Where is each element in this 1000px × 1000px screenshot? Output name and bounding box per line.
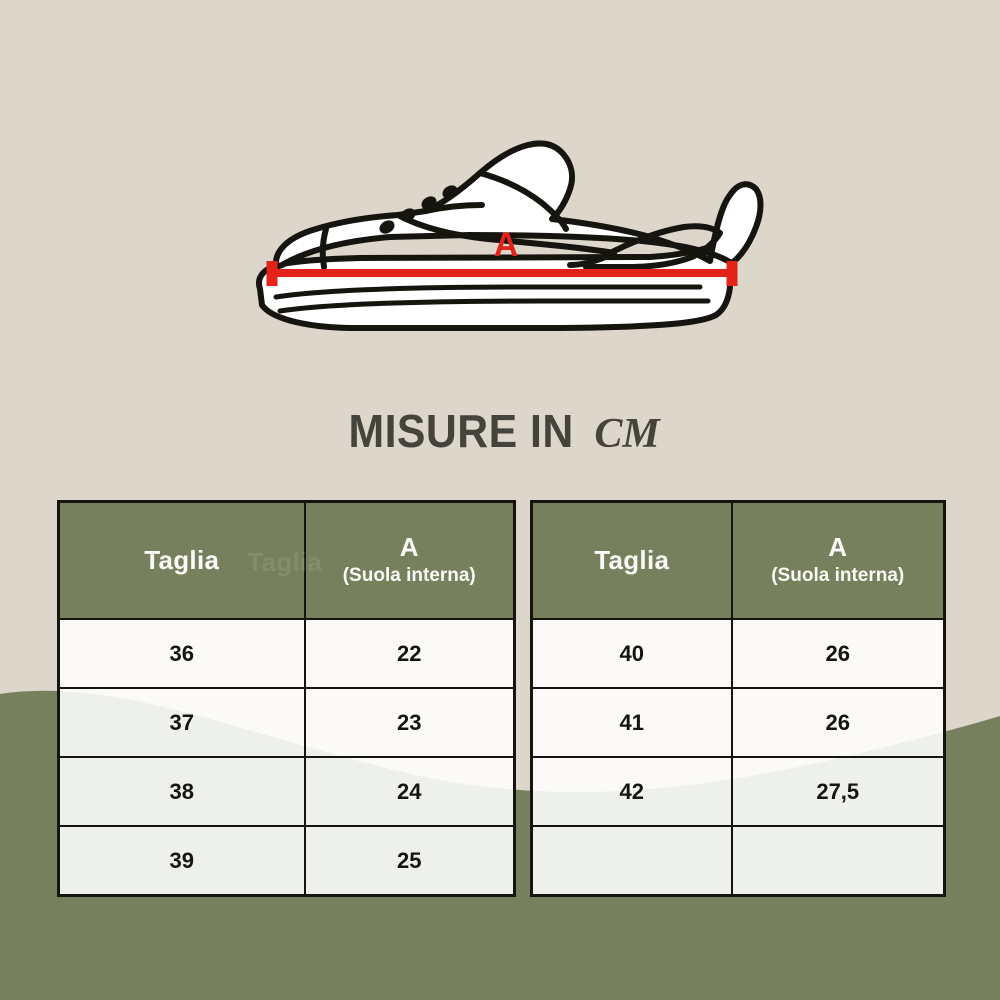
table-row: 42 27,5	[532, 757, 945, 826]
title-unit-text: CM	[594, 413, 659, 455]
header-measure-right: A (Suola interna)	[732, 502, 945, 620]
title-main-text: MISURE IN	[349, 408, 574, 454]
cell-size-empty	[532, 826, 732, 896]
table-header-row: Taglia Taglia A (Suola interna)	[59, 502, 515, 620]
header-measure-left: A (Suola interna)	[305, 502, 515, 620]
measure-label-a: A	[494, 226, 519, 264]
table-row: 41 26	[532, 688, 945, 757]
size-table-right: Taglia A (Suola interna) 40 26 41 26 42 …	[530, 500, 946, 897]
header-measure-note-right: (Suola interna)	[733, 564, 944, 588]
header-measure-letter-left: A	[306, 533, 514, 562]
cell-size: 38	[59, 757, 305, 826]
header-size-label-right: Taglia	[533, 546, 731, 575]
sneaker-side-profile-icon: A	[230, 111, 770, 341]
cell-measure: 26	[732, 619, 945, 688]
sneaker-illustration: A	[0, 96, 1000, 356]
table-row: 36 22	[59, 619, 515, 688]
cell-size: 36	[59, 619, 305, 688]
header-size-right: Taglia	[532, 502, 732, 620]
cell-measure: 25	[305, 826, 515, 896]
header-measure-note-left: (Suola interna)	[306, 564, 514, 588]
cell-size: 37	[59, 688, 305, 757]
cell-size: 42	[532, 757, 732, 826]
table-row: 38 24	[59, 757, 515, 826]
header-measure-letter-right: A	[733, 533, 944, 562]
table-row	[532, 826, 945, 896]
table-header-row: Taglia A (Suola interna)	[532, 502, 945, 620]
size-chart-page: A MISURE INCM Taglia Taglia A (Suola int…	[0, 0, 1000, 1000]
page-title: MISURE INCM	[0, 408, 1000, 455]
cell-measure: 27,5	[732, 757, 945, 826]
cell-measure-empty	[732, 826, 945, 896]
cell-size: 41	[532, 688, 732, 757]
table-row: 39 25	[59, 826, 515, 896]
cell-size: 39	[59, 826, 305, 896]
cell-measure: 23	[305, 688, 515, 757]
cell-measure: 26	[732, 688, 945, 757]
cell-size: 40	[532, 619, 732, 688]
table-row: 37 23	[59, 688, 515, 757]
cell-measure: 22	[305, 619, 515, 688]
header-size-label-left: Taglia	[144, 546, 219, 575]
table-row: 40 26	[532, 619, 945, 688]
cell-measure: 24	[305, 757, 515, 826]
header-size-left: Taglia Taglia	[59, 502, 305, 620]
size-table-left: Taglia Taglia A (Suola interna) 36 22 37…	[57, 500, 516, 897]
